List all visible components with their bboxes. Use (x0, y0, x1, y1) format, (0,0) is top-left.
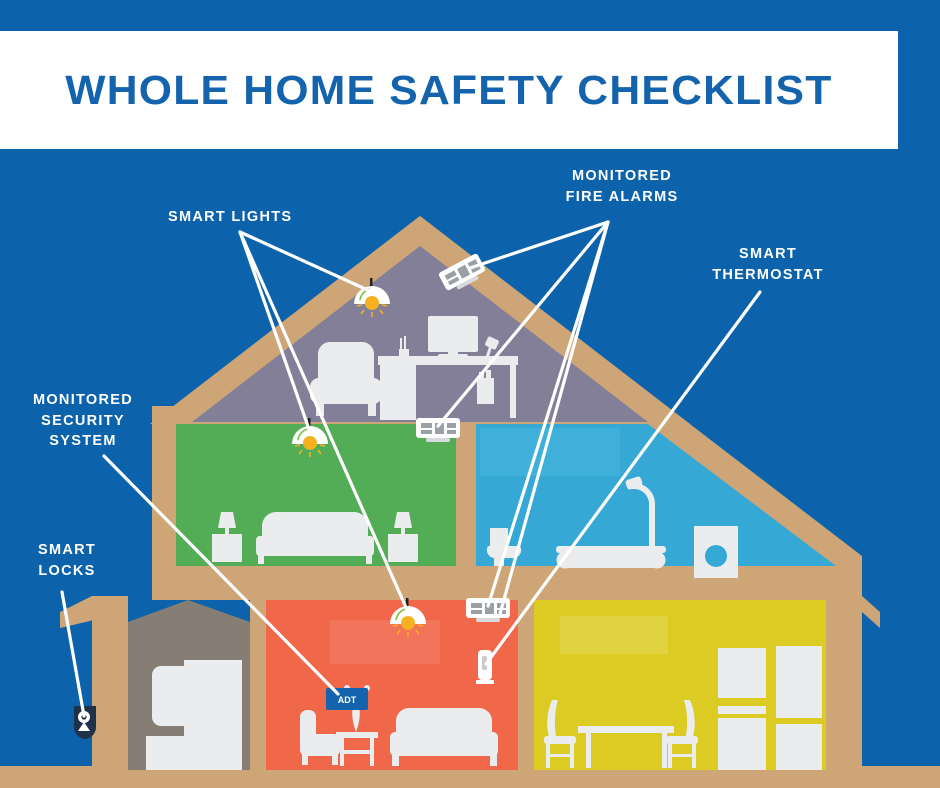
header-band: WHOLE HOME SAFETY CHECKLIST (0, 31, 898, 149)
callout-monitored-security-system: MONITORED SECURITY SYSTEM (0, 390, 166, 452)
room-garage (128, 600, 250, 770)
kitchen-wall-art (560, 616, 668, 654)
attic-monitor (428, 316, 478, 358)
wall-left-lower (92, 596, 128, 772)
callout-smart-locks: SMART LOCKS (0, 540, 134, 581)
room-bedroom (176, 418, 460, 566)
room-livingroom: ADT (266, 598, 518, 770)
divider-lower-1 (250, 600, 266, 770)
kitchen-refrigerator (776, 646, 822, 770)
infographic-canvas: ADT (0, 0, 940, 788)
divider-upper (456, 420, 476, 570)
wall-right-lower (826, 596, 862, 772)
garage-storage (146, 660, 242, 770)
livingroom-wall-art (330, 620, 440, 664)
bathroom-washer (694, 526, 738, 578)
security-panel-brand-text: ADT (338, 695, 357, 705)
callout-smart-thermostat: SMART THERMOSTAT (680, 244, 856, 285)
kitchen-oven (718, 648, 766, 770)
room-kitchen (534, 600, 826, 770)
callout-monitored-fire-alarms: MONITORED FIRE ALARMS (520, 166, 724, 207)
page-title: WHOLE HOME SAFETY CHECKLIST (65, 67, 832, 114)
callout-smart-lights: SMART LIGHTS (168, 207, 292, 228)
security-panel-adt: ADT (326, 688, 368, 710)
divider-lower-2 (518, 600, 534, 770)
smart-lock-icon (74, 706, 96, 739)
